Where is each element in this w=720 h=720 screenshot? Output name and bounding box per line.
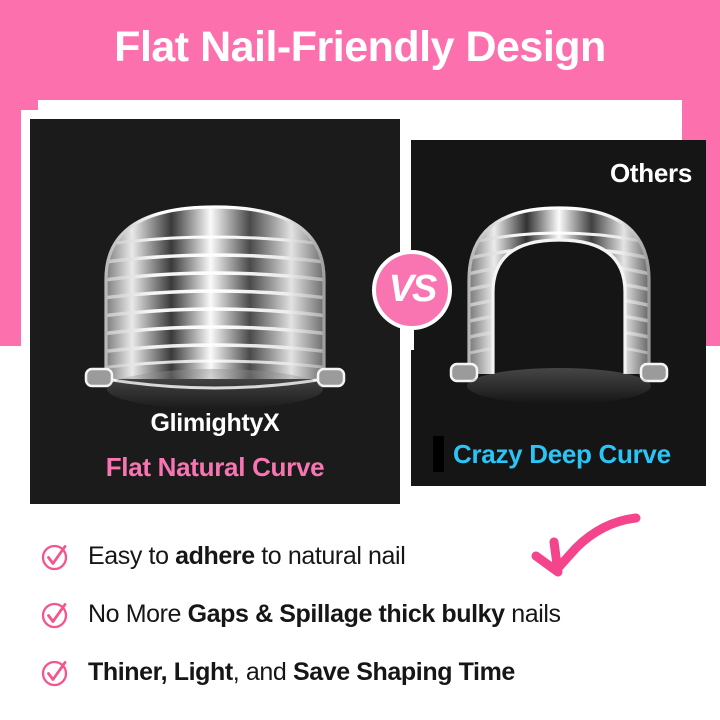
- benefit-text-2: Thiner, Light, and Save Shaping Time: [88, 659, 515, 687]
- benefit-text-0: Easy to adhere to natural nail: [88, 543, 405, 571]
- right-panel-product-sub-label: Crazy Deep Curve: [453, 441, 671, 467]
- benefit-text-1: No More Gaps & Spillage thick bulky nail…: [88, 601, 561, 629]
- left-panel-product-sub-label: Flat Natural Curve: [30, 454, 400, 480]
- right-panel-sub-label-group: Crazy Deep Curve: [433, 436, 671, 472]
- check-circle-icon: [40, 542, 70, 572]
- deep-curve-nail-form-stack-icon: [439, 188, 679, 408]
- versus-badge-label: VS: [389, 270, 436, 308]
- check-circle-icon: [40, 600, 70, 630]
- comparison-panel-others: Others: [411, 140, 706, 486]
- right-panel-product-label: Others: [610, 160, 692, 186]
- left-panel-product-label: GlimightyX: [30, 411, 400, 436]
- page-title: Flat Nail-Friendly Design: [0, 26, 720, 69]
- curved-down-arrow-icon: [524, 512, 644, 604]
- flat-curve-nail-form-stack-icon: [80, 183, 350, 413]
- vs-badge-stem: [409, 328, 414, 350]
- list-item: Thiner, Light, and Save Shaping Time: [40, 644, 700, 702]
- comparison-panel-glimightyx: GlimightyX Flat Natural Curve: [21, 110, 409, 513]
- product-comparison-infographic: Flat Nail-Friendly Design: [0, 0, 720, 720]
- check-circle-icon: [40, 658, 70, 688]
- versus-badge: VS: [372, 250, 452, 330]
- black-accent-bar: [433, 436, 444, 472]
